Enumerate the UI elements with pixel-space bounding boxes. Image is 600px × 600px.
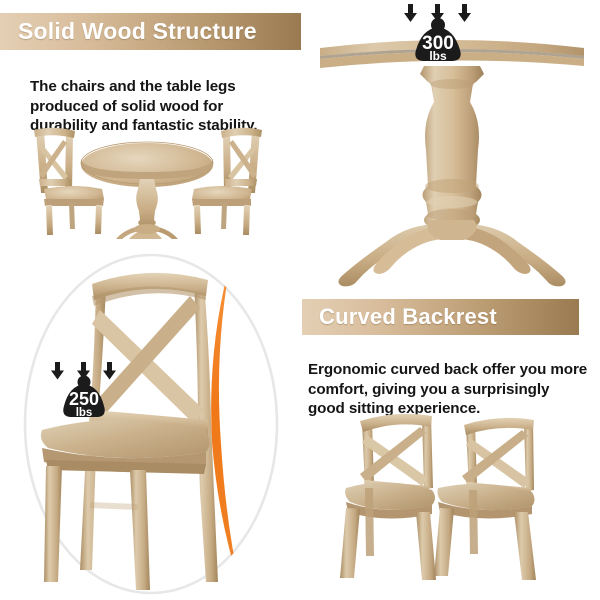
infographic-page: Solid Wood Structure The chairs and the … (0, 0, 600, 600)
banner-backrest-label: Curved Backrest (319, 304, 497, 330)
badge-300-lbs: 300 lbs (398, 2, 478, 64)
chair-right (434, 418, 536, 580)
badge-250-number: 250 (69, 389, 99, 409)
dining-set-left-chair (34, 128, 104, 235)
dining-set-right-chair (192, 128, 262, 235)
banner-structure-label: Solid Wood Structure (18, 18, 257, 45)
illustration-chair-oval (18, 252, 284, 596)
illustration-two-chairs (338, 404, 570, 584)
illustration-dining-set (22, 127, 274, 239)
banner-curved-backrest: Curved Backrest (302, 299, 579, 335)
front-left-leg (44, 466, 62, 582)
chair-left (340, 414, 436, 580)
pedestal-column (420, 66, 484, 232)
badge-250-lbs: 250 lbs (46, 360, 122, 420)
badge-300-unit: lbs (429, 49, 447, 63)
pedestal-legs (338, 220, 565, 286)
badge-250-unit: lbs (76, 407, 93, 419)
banner-solid-wood-structure: Solid Wood Structure (0, 13, 301, 50)
